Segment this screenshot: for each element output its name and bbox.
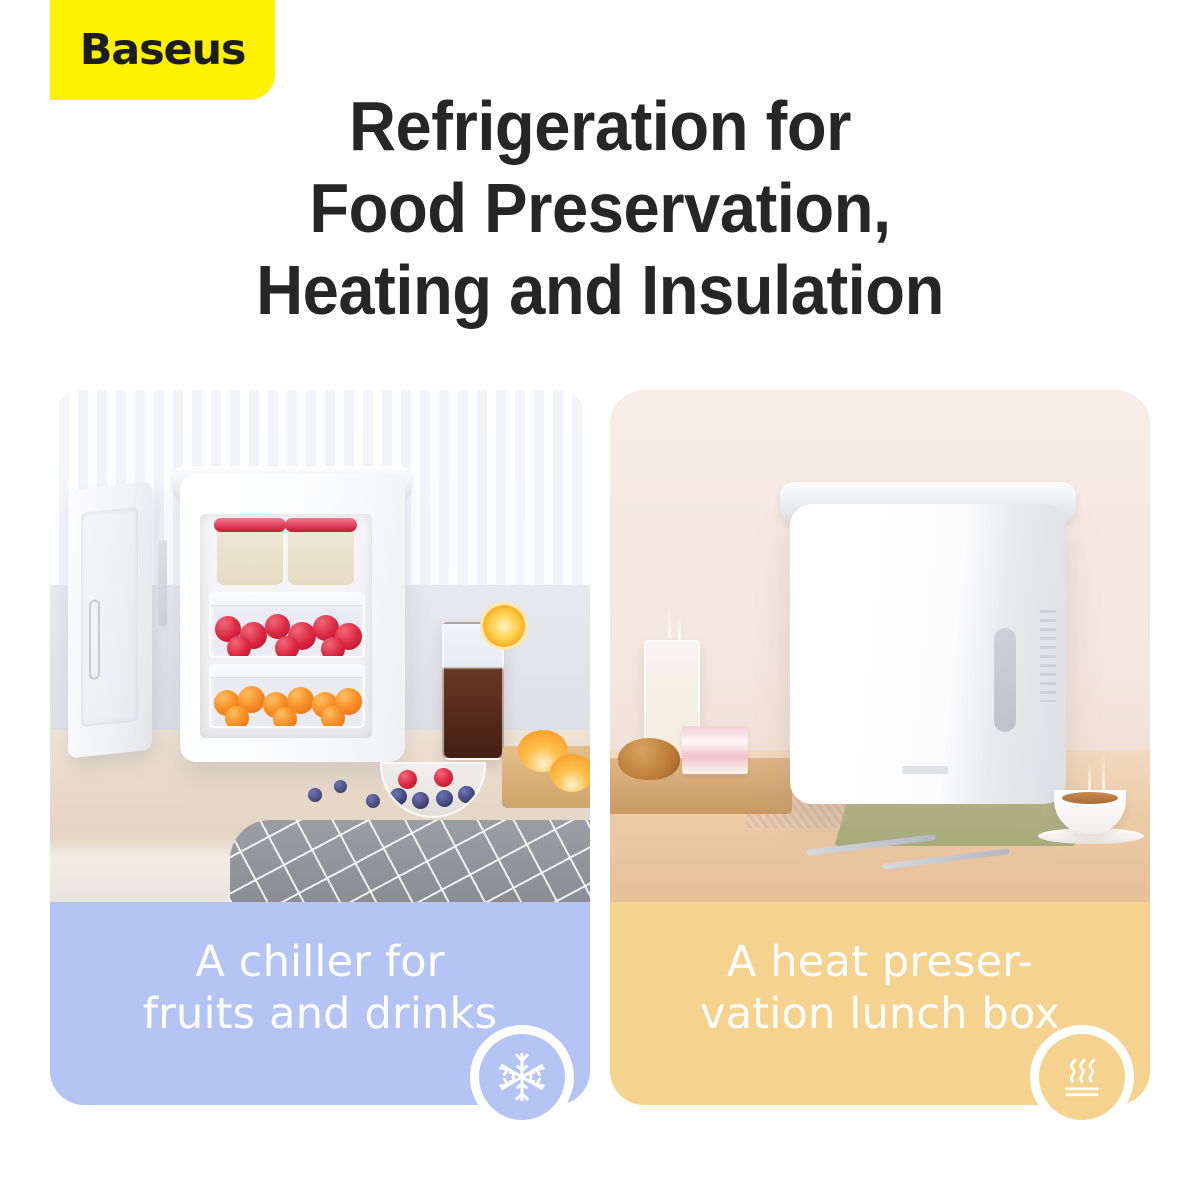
- heating-caption-text: A heat preser- vation lunch box: [700, 936, 1060, 1041]
- ice-cream-tub: [288, 527, 354, 585]
- heated-lunch-box: [790, 504, 1066, 804]
- heating-caption-line-1: A heat preser-: [700, 936, 1060, 988]
- door-handle-icon: [89, 599, 100, 680]
- fridge-door: [68, 482, 152, 759]
- checked-cloth: [230, 820, 590, 902]
- bread-roll: [618, 738, 680, 780]
- page-title: Refrigeration for Food Preservation, Hea…: [42, 86, 1158, 332]
- headline-line-1: Refrigeration for: [42, 86, 1158, 168]
- ice-cream-tub: [217, 527, 283, 585]
- product-logo-mark: [902, 766, 948, 774]
- brand-wordmark: Baseus: [80, 29, 246, 72]
- tomato-container: [209, 592, 365, 658]
- cooling-product-photo: [50, 390, 590, 902]
- brand-badge: Baseus: [50, 0, 275, 100]
- steam-heat-icon: [1030, 1025, 1134, 1129]
- cooling-caption-text: A chiller for fruits and drinks: [143, 936, 497, 1041]
- cooling-caption-line-1: A chiller for: [143, 936, 497, 988]
- mini-fridge: [180, 474, 405, 762]
- snowflake-icon: [470, 1025, 574, 1129]
- product-feature-banner: Baseus Refrigeration for Food Preservati…: [0, 0, 1200, 1200]
- heating-product-photo: [610, 390, 1150, 902]
- feature-card-cooling[interactable]: A chiller for fruits and drinks: [50, 390, 590, 1105]
- feature-card-heating[interactable]: A heat preser- vation lunch box: [610, 390, 1150, 1105]
- orange-wedge: [550, 754, 590, 792]
- heating-caption-line-2: vation lunch box: [700, 988, 1060, 1040]
- kumquat-container: [209, 664, 365, 728]
- layer-cake-slice: [682, 726, 748, 774]
- feature-card-row: A chiller for fruits and drinks: [50, 390, 1150, 1105]
- lunch-box-handle-icon: [994, 628, 1016, 732]
- headline-line-3: Heating and Insulation: [42, 250, 1158, 332]
- headline-line-2: Food Preservation,: [42, 168, 1158, 250]
- cooling-caption-line-2: fruits and drinks: [143, 988, 497, 1040]
